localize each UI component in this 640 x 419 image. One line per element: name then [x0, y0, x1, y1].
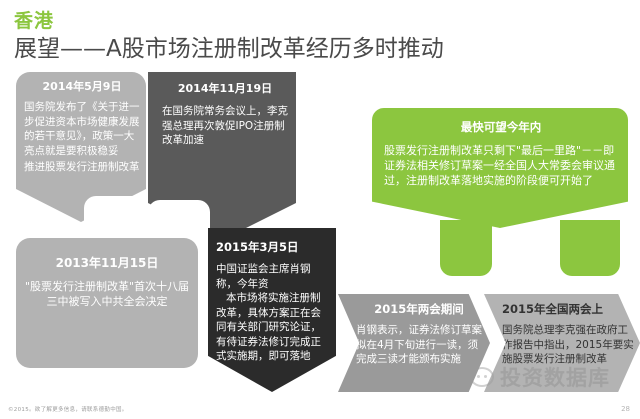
timeline-card-date: 2015年3月5日: [216, 240, 330, 254]
timeline-card-body: 国务院发布了《关于进一步促进资本市场健康发展的若干意见》，政策一大亮点就是要积极…: [24, 100, 140, 158]
connector-stub-green-left: [440, 220, 492, 276]
timeline-card-body-continued: 本市场将实施注册制改革，具体方案正在会同有关部门研究论证，有待证券法修订完成正式…: [216, 291, 330, 364]
timeline-card-date: 2013年11月15日: [24, 256, 190, 270]
timeline-card-body: 国务院总理李克强在政府工作报告中指出，2015年要实施股票发行注册制改革: [502, 323, 634, 367]
timeline-card-date: 2014年5月9日: [24, 80, 140, 94]
highlight-heading: 最快可望今年内: [384, 120, 618, 134]
timeline-card-date: 2014年11月19日: [162, 82, 288, 96]
timeline-card-2015-national-lianghui: 2015年全国两会上 国务院总理李克强在政府工作报告中指出，2015年要实施股票…: [484, 294, 640, 392]
highlight-body: 股票发行注册制改革只剩下"最后一里路"－－即证券法相关修订草案一经全国人大常委会…: [384, 143, 618, 188]
timeline-card-body: 在国务院常务会议上，李克强总理再次敦促IPO注册制改革加速: [162, 104, 288, 148]
timeline-card-2013-11-15: 2013年11月15日 "股票发行注册制改革"首次十八届三中被写入中共全会决定: [16, 238, 198, 368]
timeline-card-body: 肖钢表示，证券法修订草案拟在4月下旬进行一读，须完成三读才能颁布实施: [356, 323, 482, 367]
timeline-card-2015-03-05: 2015年3月5日 中国证监会主席肖钢称，今年资 本市场将实施注册制改革，具体方…: [208, 228, 336, 392]
page-number: 28: [621, 405, 630, 413]
footer-copyright: ©2015。欲了解更多信息，请联系德勤中国。: [8, 405, 128, 413]
page-kicker: 香港: [14, 10, 54, 32]
connector-stub-green-right: [560, 220, 620, 276]
highlight-card: 最快可望今年内 股票发行注册制改革只剩下"最后一里路"－－即证券法相关修订草案一…: [372, 108, 628, 228]
timeline-card-body: 中国证监会主席肖钢称，今年资: [216, 262, 330, 291]
timeline-card-body-continued: 推进股票发行注册制改革: [24, 160, 140, 175]
page-title: 展望——A股市场注册制改革经历多时推动: [14, 34, 444, 64]
timeline-card-body: "股票发行注册制改革"首次十八届三中被写入中共全会决定: [24, 279, 190, 309]
timeline-card-date: 2015年两会期间: [356, 302, 482, 316]
timeline-card-date: 2015年全国两会上: [502, 302, 634, 316]
timeline-card-2015-lianghui: 2015年两会期间 肖钢表示，证券法修订草案拟在4月下旬进行一读，须完成三读才能…: [338, 294, 490, 392]
slide-root: 香港 展望——A股市场注册制改革经历多时推动 2014年5月9日 国务院发布了《…: [0, 0, 640, 419]
